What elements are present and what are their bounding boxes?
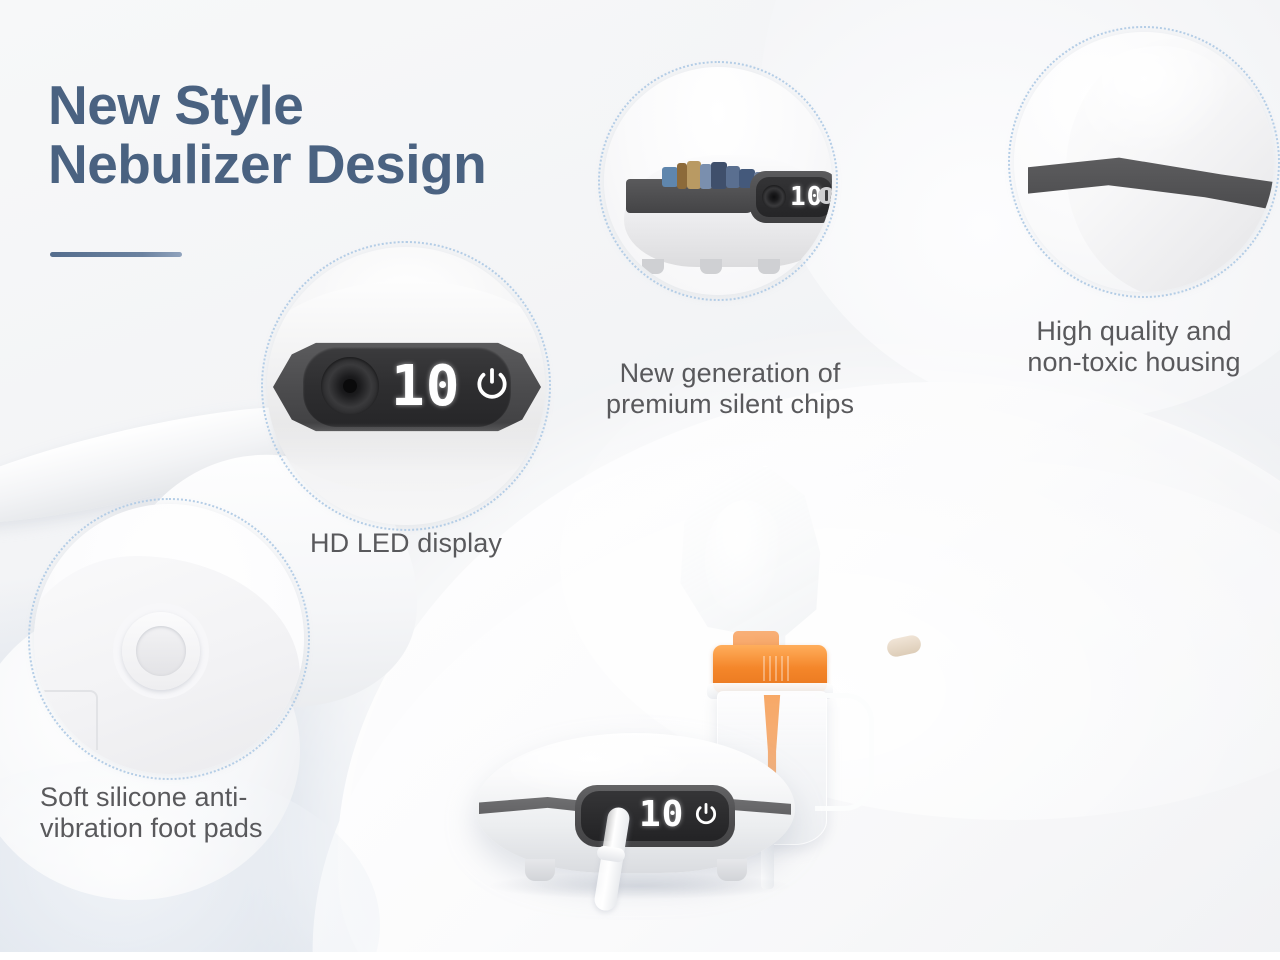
- hero-product-image: 10: [455, 455, 975, 925]
- mouthpiece: [886, 634, 923, 659]
- callout-ring: [28, 498, 310, 780]
- unit-foot-left: [525, 859, 555, 881]
- page-title-line-2: Nebulizer Design: [48, 135, 608, 194]
- callout-caption-non-toxic-housing: High quality and non-toxic housing: [984, 316, 1280, 379]
- caption-line: vibration foot pads: [40, 813, 340, 844]
- cup-handle: [815, 693, 874, 811]
- page-title-line-1: New Style: [48, 74, 303, 136]
- caption-line: New generation of: [560, 358, 900, 389]
- caption-line: non-toxic housing: [984, 347, 1280, 378]
- unit-foot-right: [717, 859, 747, 881]
- callout-caption-foot-pads: Soft silicone anti- vibration foot pads: [40, 782, 340, 845]
- callout-non-toxic-housing: [1008, 26, 1280, 298]
- caption-line: Soft silicone anti-: [40, 782, 340, 813]
- caption-line: premium silent chips: [560, 389, 900, 420]
- caption-line: High quality and: [984, 316, 1280, 347]
- product-feature-banner: New Style Nebulizer Design 10 HD LED dis…: [0, 0, 1280, 960]
- power-icon: [693, 801, 719, 827]
- callout-caption-silent-chips: New generation of premium silent chips: [560, 358, 900, 421]
- led-display-value: 10: [639, 791, 684, 839]
- callout-ring: [1008, 26, 1280, 298]
- bottom-edge-strip: [0, 952, 1280, 960]
- page-title: New Style Nebulizer Design: [48, 76, 608, 194]
- title-accent-rule: [50, 252, 182, 257]
- callout-ring: [598, 61, 838, 301]
- callout-silent-chips: 10: [598, 61, 838, 301]
- mask-highlight: [705, 500, 785, 620]
- callout-foot-pads: [28, 498, 310, 780]
